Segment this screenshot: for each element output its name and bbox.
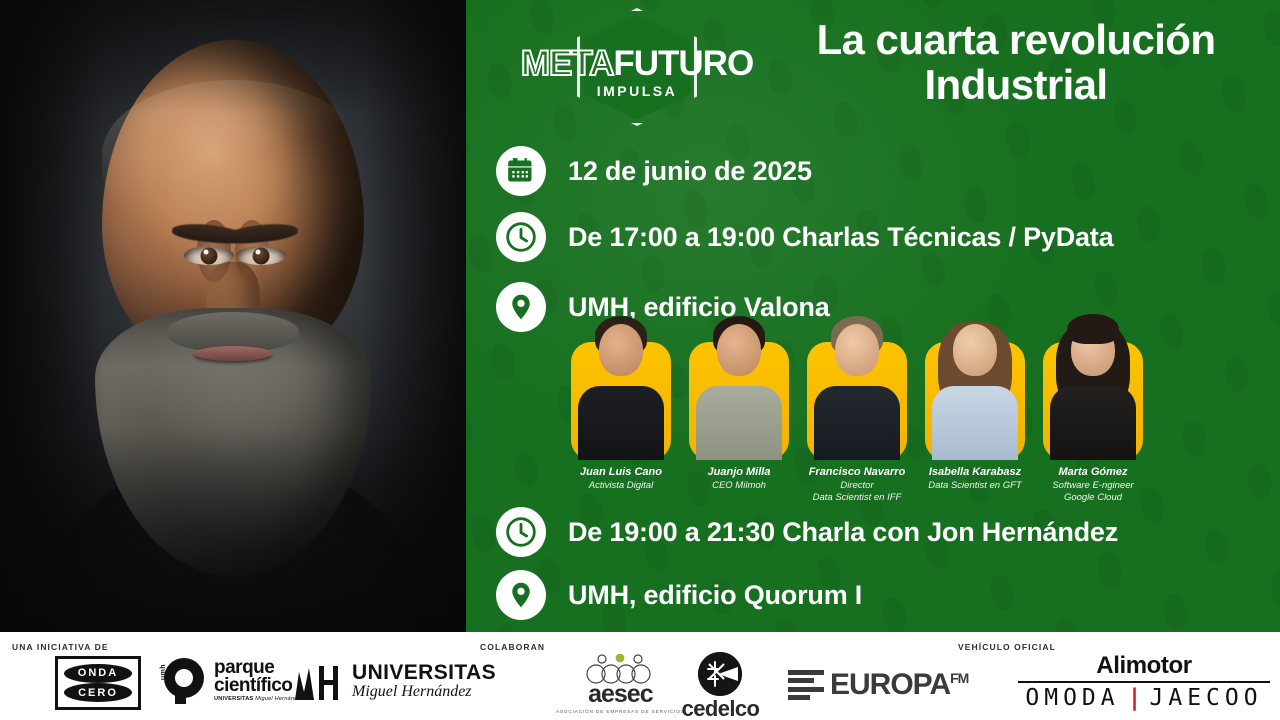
speaker-card: Juan Luis Cano Activista Digital (571, 342, 671, 503)
metafuturo-logo: METAFUTURO IMPULSA (506, 8, 768, 126)
cedelco-name: cedelco (682, 698, 760, 720)
speakers-list: Juan Luis Cano Activista Digital Juanjo … (571, 342, 1185, 503)
info-row-venue-quorum: UMH, edificio Quorum I (496, 570, 862, 620)
aesec-subtitle: ASOCIACIÓN DE EMPRESAS DE SERVICIOS (556, 709, 685, 714)
cedelco-logo: cedelco CIRCULO EMPRESARIAL DE ELCHE Y C… (676, 652, 765, 720)
page-title: La cuarta revolución Industrial (766, 18, 1266, 108)
parque-umh-text: umh (160, 664, 167, 680)
onda-cero-line2: CERO (64, 683, 132, 702)
calendar-icon (496, 146, 546, 196)
info-row-date: 12 de junio de 2025 (496, 146, 812, 196)
parque-line3-bold: UNIVERSITAS (214, 696, 253, 702)
logo-meta-text: META (521, 44, 614, 83)
umh-mark-icon (292, 658, 344, 704)
speaker-photo (696, 312, 782, 460)
speaker-name: Juanjo Milla (689, 466, 789, 479)
info-row-venue-quorum-text: UMH, edificio Quorum I (568, 580, 862, 611)
info-row-time-technical: De 17:00 a 19:00 Charlas Técnicas / PyDa… (496, 212, 1113, 262)
speaker-photo (814, 312, 900, 460)
universitas-miguel-hernandez-logo: UNIVERSITAS Miguel Hernández (292, 658, 496, 704)
alimotor-divider (1018, 681, 1270, 683)
speaker-card-background (689, 342, 789, 460)
europa-fm-logo: EUROPAFM (788, 670, 968, 700)
logo-tagline: IMPULSA (506, 84, 768, 98)
brand-separator: | (1128, 685, 1142, 711)
speaker-card-background (1043, 342, 1143, 460)
info-row-time-talk: De 19:00 a 21:30 Charla con Jon Hernánde… (496, 507, 1118, 557)
speaker-role: CEO Milmoh (689, 480, 789, 492)
clock-icon (496, 507, 546, 557)
cedelco-mark-icon (698, 652, 742, 696)
speaker-name: Juan Luis Cano (571, 466, 671, 479)
speaker-name: Isabella Karabasz (925, 466, 1025, 479)
speaker-card-background (807, 342, 907, 460)
europa-fm-bars-icon (788, 670, 824, 700)
parque-line2: científico (214, 677, 304, 695)
speaker-card-background (925, 342, 1025, 460)
alimotor-logo: Alimotor OMODA | JAECOO (1018, 654, 1270, 711)
europa-fm-suffix: FM (950, 670, 968, 686)
universitas-line1: UNIVERSITAS (352, 662, 496, 684)
speaker-card: Juanjo Milla CEO Milmoh (689, 342, 789, 503)
location-pin-icon (496, 570, 546, 620)
speaker-photo (578, 312, 664, 460)
speaker-card-background (571, 342, 671, 460)
alimotor-name: Alimotor (1096, 654, 1191, 678)
portrait-vignette (0, 0, 466, 632)
aesec-mark-icon (580, 654, 660, 684)
europa-fm-name: EUROPA (830, 668, 950, 701)
speaker-name: Marta Gómez (1043, 466, 1143, 479)
parque-mark-icon: umh (160, 658, 206, 704)
speaker-name: Francisco Navarro (807, 466, 907, 479)
omoda-brand: OMODA (1025, 685, 1119, 711)
onda-cero-logo: ONDA CERO (55, 656, 141, 710)
speaker-role: Activista Digital (571, 480, 671, 492)
speaker-photo (1050, 312, 1136, 460)
info-row-time-technical-text: De 17:00 a 19:00 Charlas Técnicas / PyDa… (568, 222, 1113, 253)
clock-icon (496, 212, 546, 262)
speaker-card: Marta Gómez Software E-ngineer Google Cl… (1043, 342, 1143, 503)
footer-label-initiative: UNA INICIATIVA DE (12, 642, 109, 652)
speaker-photo (932, 312, 1018, 460)
speaker-card: Isabella Karabasz Data Scientist en GFT (925, 342, 1025, 503)
info-row-date-text: 12 de junio de 2025 (568, 156, 812, 187)
location-pin-icon (496, 282, 546, 332)
aesec-logo: aesec ASOCIACIÓN DE EMPRESAS DE SERVICIO… (556, 654, 685, 714)
universitas-line2: Miguel Hernández (352, 684, 496, 701)
onda-cero-line1: ONDA (64, 664, 132, 683)
event-info-panel: METAFUTURO IMPULSA La cuarta revolución … (466, 0, 1280, 632)
parque-cientifico-logo: umh parque científico UNIVERSITAS Miguel… (160, 658, 304, 704)
jaecoo-brand: JAECOO (1150, 685, 1263, 711)
footer-label-collaborate: COLABORAN (480, 642, 545, 652)
speaker-card: Francisco Navarro Director Data Scientis… (807, 342, 907, 503)
info-row-time-talk-text: De 19:00 a 21:30 Charla con Jon Hernánde… (568, 517, 1118, 548)
sponsors-footer: UNA INICIATIVA DE COLABORAN VEHÍCULO OFI… (0, 632, 1280, 720)
aesec-name: aesec (588, 682, 653, 707)
speaker-role: Data Scientist en GFT (925, 480, 1025, 492)
speaker-role: Software E-ngineer Google Cloud (1043, 480, 1143, 504)
logo-futuro-text: FUTURO (613, 44, 753, 83)
speaker-role: Director Data Scientist en IFF (807, 480, 907, 504)
speaker-portrait-photo (0, 0, 466, 632)
footer-label-vehicle: VEHÍCULO OFICIAL (958, 642, 1056, 652)
event-poster: METAFUTURO IMPULSA La cuarta revolución … (0, 0, 1280, 720)
